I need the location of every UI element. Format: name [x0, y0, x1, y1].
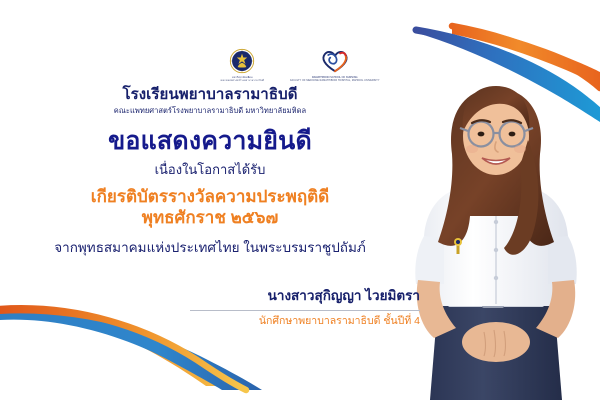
- portrait-hands: [462, 322, 530, 362]
- nursing-caption-line2: FACULTY OF MEDICINE RAMATHIBODI HOSPITAL…: [290, 79, 379, 82]
- mahidol-crest-icon: [229, 48, 255, 74]
- portrait-sleeve-right: [548, 236, 577, 284]
- recipient-divider: [190, 310, 420, 311]
- mahidol-university-logo: มหาวิทยาลัยมหิดล คณะแพทยศาสตร์โรงพยาบาลร…: [220, 48, 264, 82]
- award-grantor: จากพุทธสมาคมแห่งประเทศไทย ในพระบรมราชูปถ…: [0, 240, 420, 256]
- ramathibodi-nursing-logo: RAMATHIBODI SCHOOL OF NURSING FACULTY OF…: [290, 48, 379, 82]
- nursing-logo-caption: RAMATHIBODI SCHOOL OF NURSING FACULTY OF…: [290, 76, 379, 82]
- recipient-block: นางสาวสุกิญญา ไวยมิตรา นักศึกษาพยาบาลราม…: [190, 288, 420, 328]
- recipient-role: นักศึกษาพยาบาลรามาธิบดี ชั้นปีที่ 4: [190, 315, 420, 328]
- nursing-heart-icon: [318, 48, 352, 74]
- organization-title: โรงเรียนพยาบาลรามาธิบดี: [0, 86, 420, 103]
- congratulations-card: มหาวิทยาลัยมหิดล คณะแพทยศาสตร์โรงพยาบาลร…: [0, 0, 600, 400]
- logo-row: มหาวิทยาลัยมหิดล คณะแพทยศาสตร์โรงพยาบาลร…: [0, 48, 600, 82]
- occasion-text: เนื่องในโอกาสได้รับ: [0, 162, 420, 178]
- mahidol-logo-caption: มหาวิทยาลัยมหิดล คณะแพทยศาสตร์โรงพยาบาลร…: [220, 76, 264, 82]
- congratulations-heading: ขอแสดงความยินดี: [0, 128, 420, 156]
- mahidol-caption-line2: คณะแพทยศาสตร์โรงพยาบาลรามาธิบดี: [220, 79, 264, 82]
- organization-subtitle: คณะแพทยศาสตร์โรงพยาบาลรามาธิบดี มหาวิทยา…: [0, 105, 420, 117]
- award-title-line2: พุทธศักราช ๒๕๖๗: [0, 208, 420, 229]
- message-block: โรงเรียนพยาบาลรามาธิบดี คณะแพทยศาสตร์โรง…: [0, 86, 420, 256]
- award-title-line1: เกียรติบัตรรางวัลความประพฤติดี: [0, 187, 420, 208]
- recipient-name: นางสาวสุกิญญา ไวยมิตรา: [190, 288, 420, 305]
